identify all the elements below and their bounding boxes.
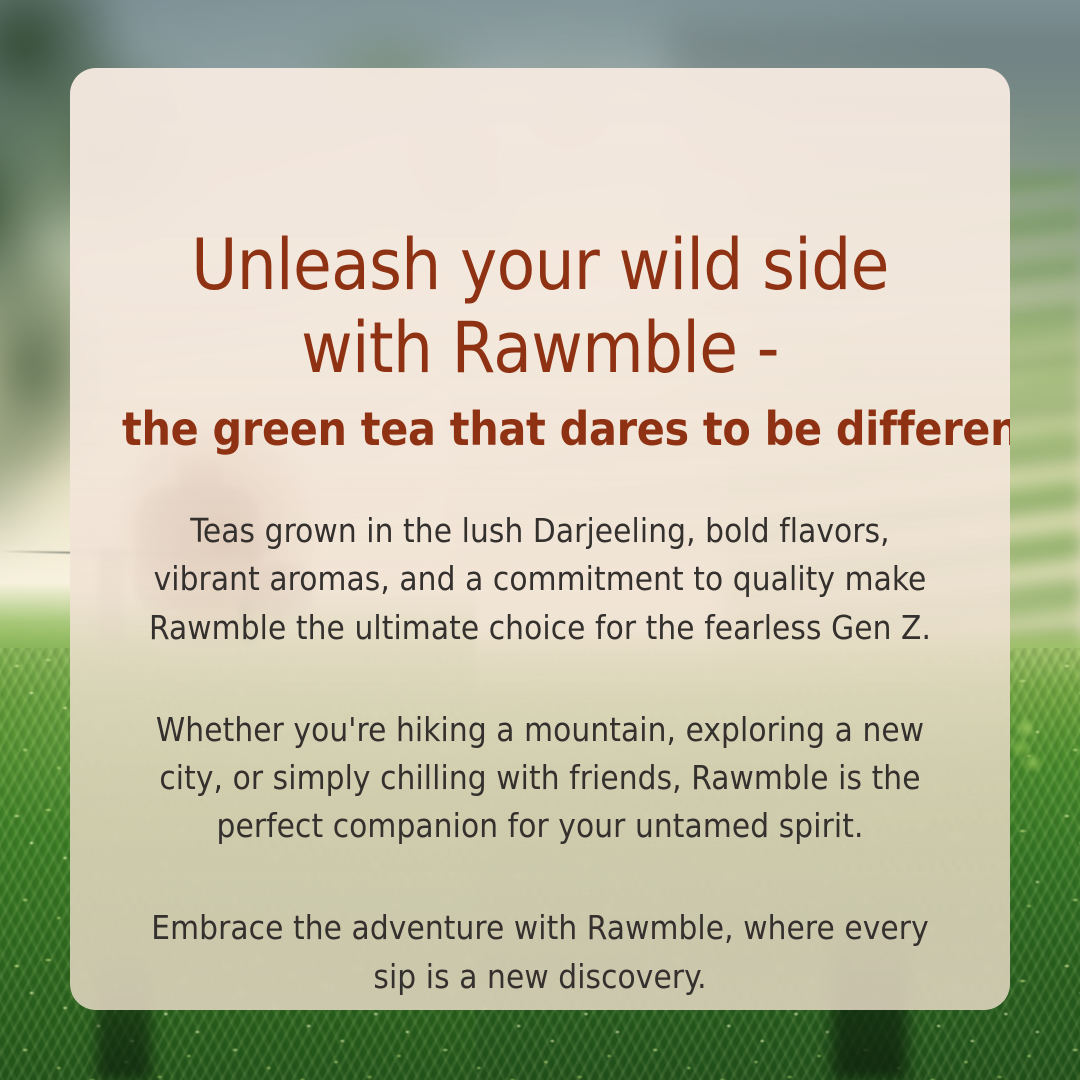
headline-line-1: Unleash your wild side: [122, 224, 958, 307]
promo-image-canvas: Unleash your wild side with Rawmble - th…: [0, 0, 1080, 1080]
headline-line-2: with Rawmble -: [122, 307, 958, 390]
headline-line-3: the green tea that dares to be different…: [122, 401, 958, 457]
promo-content-card: Unleash your wild side with Rawmble - th…: [70, 68, 1010, 1010]
body-paragraph-1: Teas grown in the lush Darjeeling, bold …: [140, 507, 940, 652]
body-paragraph-2: Whether you're hiking a mountain, explor…: [140, 706, 940, 851]
tea-sprig: [1009, 718, 1043, 788]
body-copy-block: Teas grown in the lush Darjeeling, bold …: [122, 507, 958, 1000]
headline-block: Unleash your wild side with Rawmble - th…: [122, 68, 958, 457]
body-paragraph-3: Embrace the adventure with Rawmble, wher…: [140, 904, 940, 1000]
